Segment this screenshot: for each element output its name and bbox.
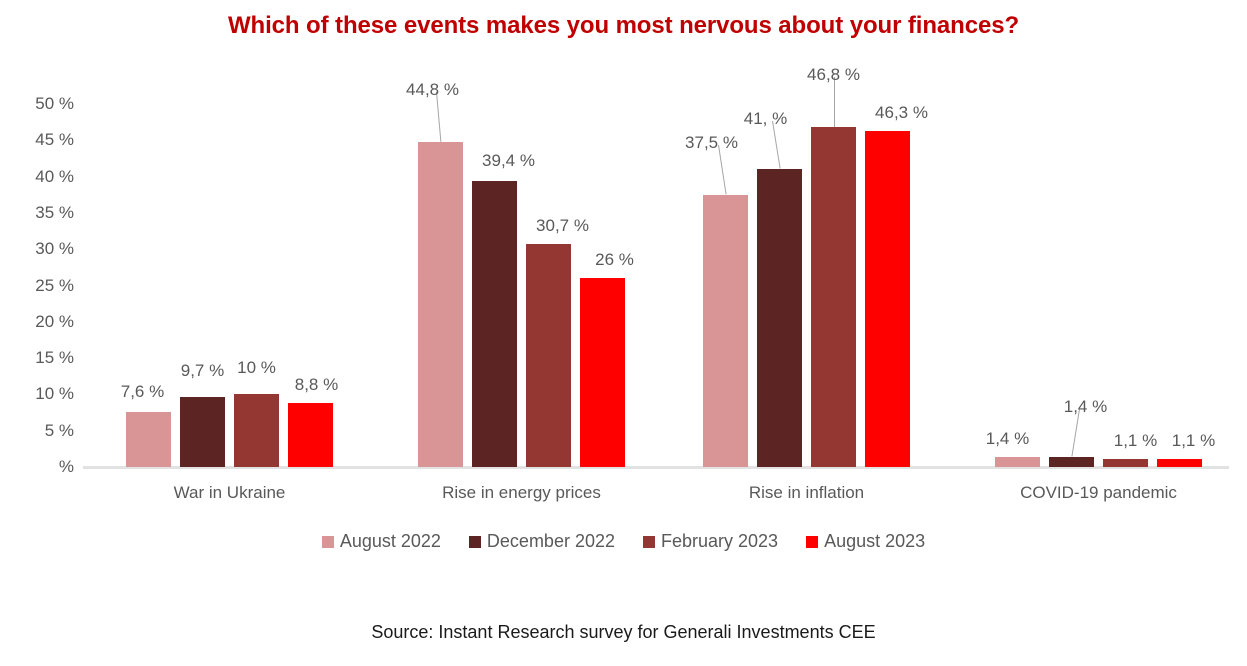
bar (234, 394, 279, 467)
bar-value-label: 1,4 % (986, 429, 1029, 449)
bar (1103, 459, 1148, 467)
y-axis-tick-label: % (8, 457, 74, 477)
plot-area: 7,6 %9,7 %10 %8,8 %44,8 %39,4 %30,7 %26 … (83, 104, 1229, 467)
legend-swatch-icon (469, 536, 481, 548)
bar (126, 412, 171, 467)
bar-value-label: 1,1 % (1114, 431, 1157, 451)
y-axis-tick-label: 45 % (8, 130, 74, 150)
bar-value-label: 1,4 % (1064, 397, 1107, 417)
bar (703, 195, 748, 467)
bar-value-label: 8,8 % (295, 375, 338, 395)
legend-item[interactable]: December 2022 (469, 531, 615, 552)
x-axis-category-label: Rise in energy prices (442, 483, 601, 503)
bar-value-label: 46,8 % (807, 65, 860, 85)
legend-swatch-icon (806, 536, 818, 548)
legend-label: February 2023 (661, 531, 778, 552)
y-axis-tick-label: 20 % (8, 312, 74, 332)
bar (865, 131, 910, 467)
bar-value-label: 1,1 % (1172, 431, 1215, 451)
y-axis: %5 %10 %15 %20 %25 %30 %35 %40 %45 %50 % (0, 0, 74, 666)
source-note: Source: Instant Research survey for Gene… (0, 622, 1247, 643)
page-title: Which of these events makes you most ner… (0, 12, 1247, 40)
y-axis-tick-label: 5 % (8, 421, 74, 441)
bar (288, 403, 333, 467)
legend-label: December 2022 (487, 531, 615, 552)
bar-value-label: 26 % (595, 250, 634, 270)
y-axis-tick-label: 10 % (8, 384, 74, 404)
bar-value-label: 10 % (237, 358, 276, 378)
bar-value-label: 30,7 % (536, 216, 589, 236)
legend-item[interactable]: February 2023 (643, 531, 778, 552)
bar-value-label: 9,7 % (181, 361, 224, 381)
y-axis-tick-label: 15 % (8, 348, 74, 368)
legend-swatch-icon (643, 536, 655, 548)
legend-label: August 2022 (340, 531, 441, 552)
bar-value-label: 39,4 % (482, 151, 535, 171)
y-axis-tick-label: 30 % (8, 239, 74, 259)
legend-label: August 2023 (824, 531, 925, 552)
x-axis-category-label: Rise in inflation (749, 483, 864, 503)
bar-value-label: 44,8 % (406, 80, 459, 100)
bar-value-label: 46,3 % (875, 103, 928, 123)
bar (757, 169, 802, 467)
y-axis-tick-label: 40 % (8, 167, 74, 187)
legend: August 2022December 2022February 2023Aug… (0, 531, 1247, 552)
bar (472, 181, 517, 467)
legend-item[interactable]: August 2023 (806, 531, 925, 552)
y-axis-tick-label: 35 % (8, 203, 74, 223)
legend-swatch-icon (322, 536, 334, 548)
legend-item[interactable]: August 2022 (322, 531, 441, 552)
bar (580, 278, 625, 467)
y-axis-tick-label: 50 % (8, 94, 74, 114)
x-axis-category-label: COVID-19 pandemic (1020, 483, 1177, 503)
x-axis-category-label: War in Ukraine (174, 483, 286, 503)
bar (1049, 457, 1094, 467)
bar (995, 457, 1040, 467)
bar-value-label: 41, % (744, 109, 787, 129)
bar-value-label: 37,5 % (685, 133, 738, 153)
bar (526, 244, 571, 467)
bar (180, 397, 225, 467)
bar (1157, 459, 1202, 467)
bar-value-label: 7,6 % (121, 382, 164, 402)
y-axis-tick-label: 25 % (8, 276, 74, 296)
bar (418, 142, 463, 467)
bar (811, 127, 856, 467)
